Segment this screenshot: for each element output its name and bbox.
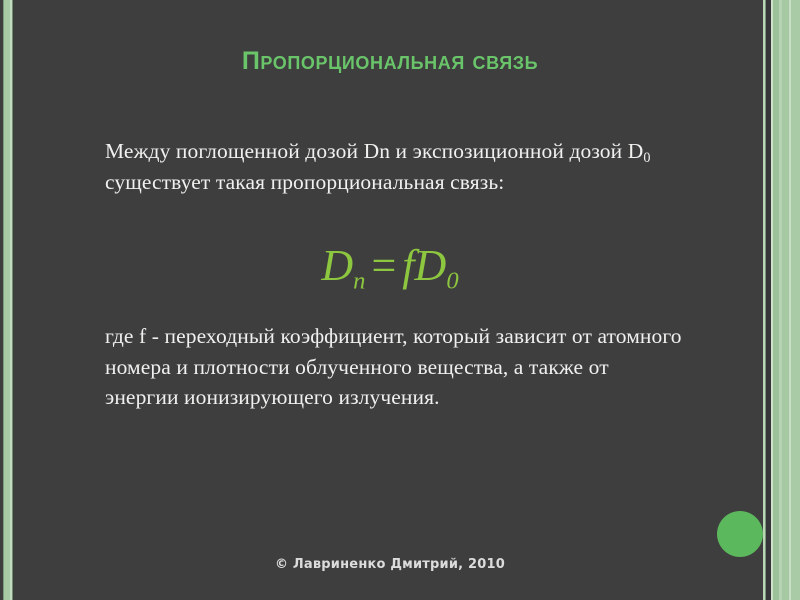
right-stripe-line-8 <box>791 0 800 600</box>
right-accent-stripe <box>756 0 800 600</box>
formula-rhs-variable: D <box>415 241 447 290</box>
paragraph-intro-part2: существует такая пропорциональная связь: <box>105 170 504 194</box>
slide-canvas: Пропорциональная связь Между поглощенной… <box>0 0 800 600</box>
paragraph-intro: Между поглощенной дозой Dn и экспозицион… <box>105 136 685 197</box>
slide-title: Пропорциональная связь <box>60 47 720 76</box>
formula-proportional-relation: Dn=fD0 <box>60 243 720 289</box>
paragraph-explanation: где f - переходный коэффициент, который … <box>105 321 685 413</box>
right-stripe-line-6 <box>782 0 789 600</box>
green-circle-accent <box>717 511 763 557</box>
left-stripe-line-4 <box>12 0 13 600</box>
formula-coefficient-f: f <box>402 241 414 290</box>
formula-lhs-subscript: n <box>353 267 365 294</box>
formula-equals-operator: = <box>365 241 402 290</box>
dose-subscript-zero: 0 <box>643 150 650 166</box>
paragraph-intro-part1: Между поглощенной дозой Dn и экспозицион… <box>105 139 643 163</box>
formula-rhs-subscript: 0 <box>446 267 458 294</box>
left-accent-stripe <box>0 0 16 600</box>
formula-lhs-variable: D <box>321 241 353 290</box>
footer-copyright: © Лавриненко Дмитрий, 2010 <box>60 557 720 572</box>
